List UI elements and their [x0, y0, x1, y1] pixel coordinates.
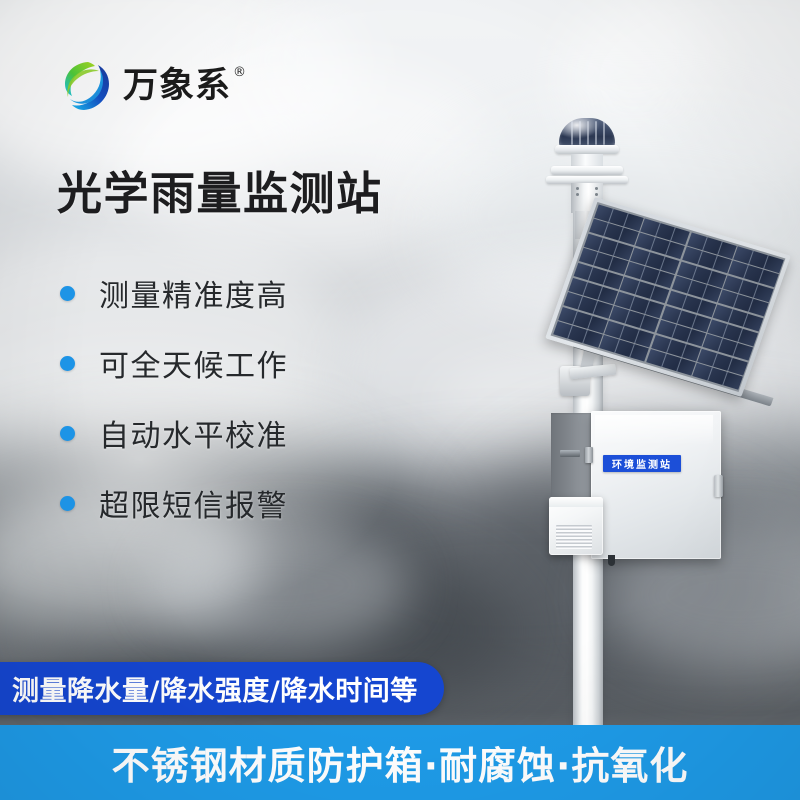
- measurement-banner: 测量降水量/降水强度/降水时间等: [0, 662, 444, 715]
- list-item: 自动水平校准: [60, 398, 288, 468]
- brand-name-text: 万象系: [123, 66, 231, 106]
- feature-label: 可全天候工作: [99, 341, 288, 385]
- feature-label: 自动水平校准: [99, 411, 288, 455]
- feature-label: 超限短信报警: [99, 481, 288, 525]
- list-item: 可全天候工作: [60, 328, 288, 398]
- bullet-dot-icon: [60, 496, 75, 511]
- bottom-feature-bar: 不锈钢材质防护箱·耐腐蚀·抗氧化: [0, 725, 800, 800]
- product-poster: 环境监测站: [0, 0, 800, 800]
- brand-name: 万象系 ®: [123, 69, 231, 104]
- list-item: 超限短信报警: [60, 468, 288, 538]
- bullet-dot-icon: [60, 286, 75, 301]
- registered-trademark-icon: ®: [233, 66, 247, 79]
- list-item: 测量精准度高: [60, 258, 288, 328]
- bottom-bar-text: 不锈钢材质防护箱·耐腐蚀·抗氧化: [112, 735, 689, 790]
- feature-label: 测量精准度高: [99, 271, 288, 315]
- brand-logo: 万象系 ®: [58, 58, 231, 114]
- globe-swirl-logo-icon: [58, 58, 114, 114]
- feature-list: 测量精准度高 可全天候工作 自动水平校准 超限短信报警: [60, 258, 288, 538]
- page-title: 光学雨量监测站: [57, 168, 383, 220]
- bullet-dot-icon: [60, 356, 75, 371]
- bullet-dot-icon: [60, 426, 75, 441]
